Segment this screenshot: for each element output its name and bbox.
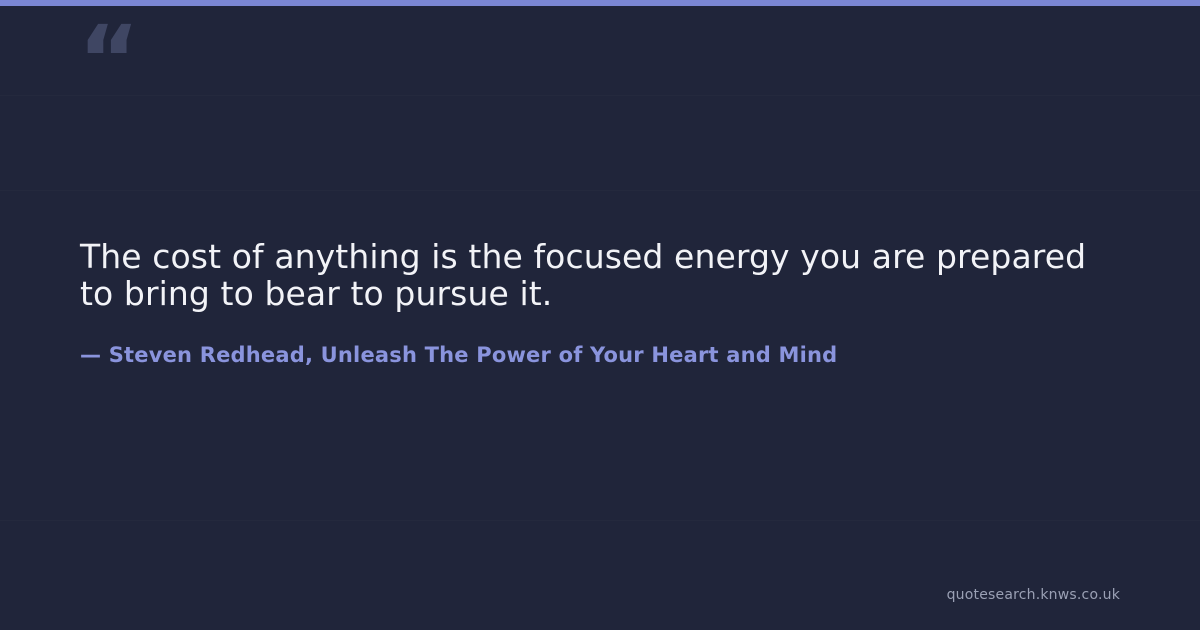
quote-card: “ The cost of anything is the focused en…: [0, 0, 1200, 630]
quotation-mark-icon: “: [78, 14, 138, 108]
background-band-seam: [0, 95, 1200, 96]
top-accent-bar: [0, 0, 1200, 6]
quote-body: The cost of anything is the focused ener…: [80, 238, 1120, 368]
quote-text: The cost of anything is the focused ener…: [80, 238, 1120, 313]
background-band-seam: [0, 190, 1200, 191]
site-url-label: quotesearch.knws.co.uk: [947, 587, 1120, 603]
background-band-seam: [0, 520, 1200, 521]
quote-attribution: — Steven Redhead, Unleash The Power of Y…: [80, 313, 1120, 368]
